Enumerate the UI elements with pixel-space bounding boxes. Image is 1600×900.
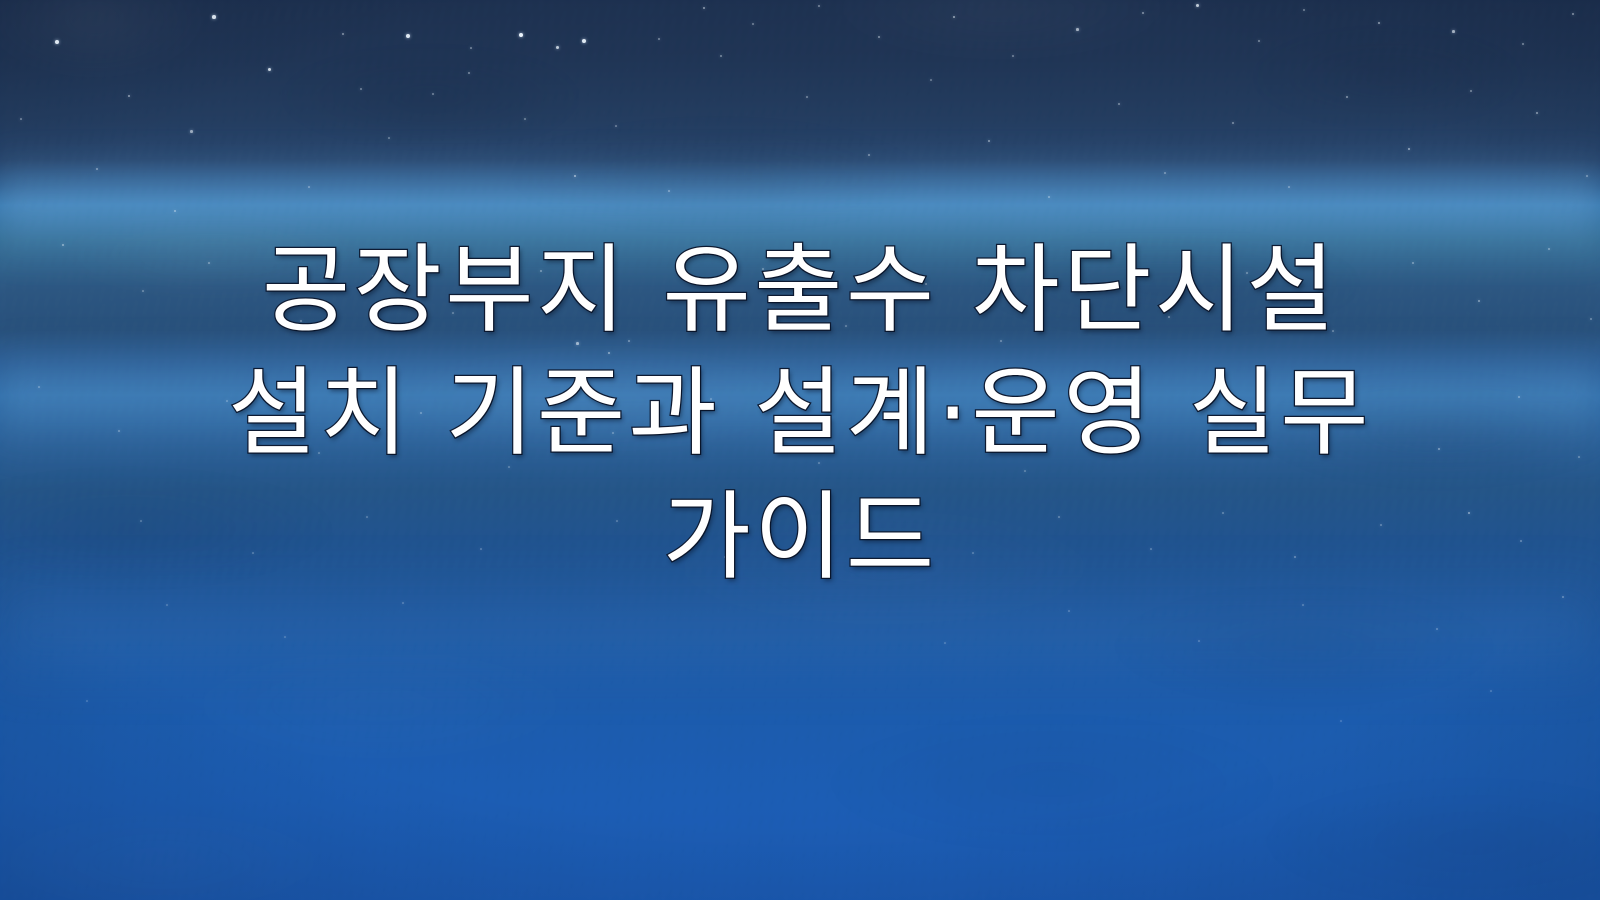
title-line-1: 공장부지 유출수 차단시설 — [262, 236, 1338, 345]
title-line-3: 가이드 — [662, 483, 937, 592]
title-slide: 공장부지 유출수 차단시설 설치 기준과 설계·운영 실무 가이드 — [0, 0, 1600, 900]
title-line-2: 설치 기준과 설계·운영 실무 — [228, 359, 1372, 468]
title-block: 공장부지 유출수 차단시설 설치 기준과 설계·운영 실무 가이드 — [0, 0, 1600, 900]
